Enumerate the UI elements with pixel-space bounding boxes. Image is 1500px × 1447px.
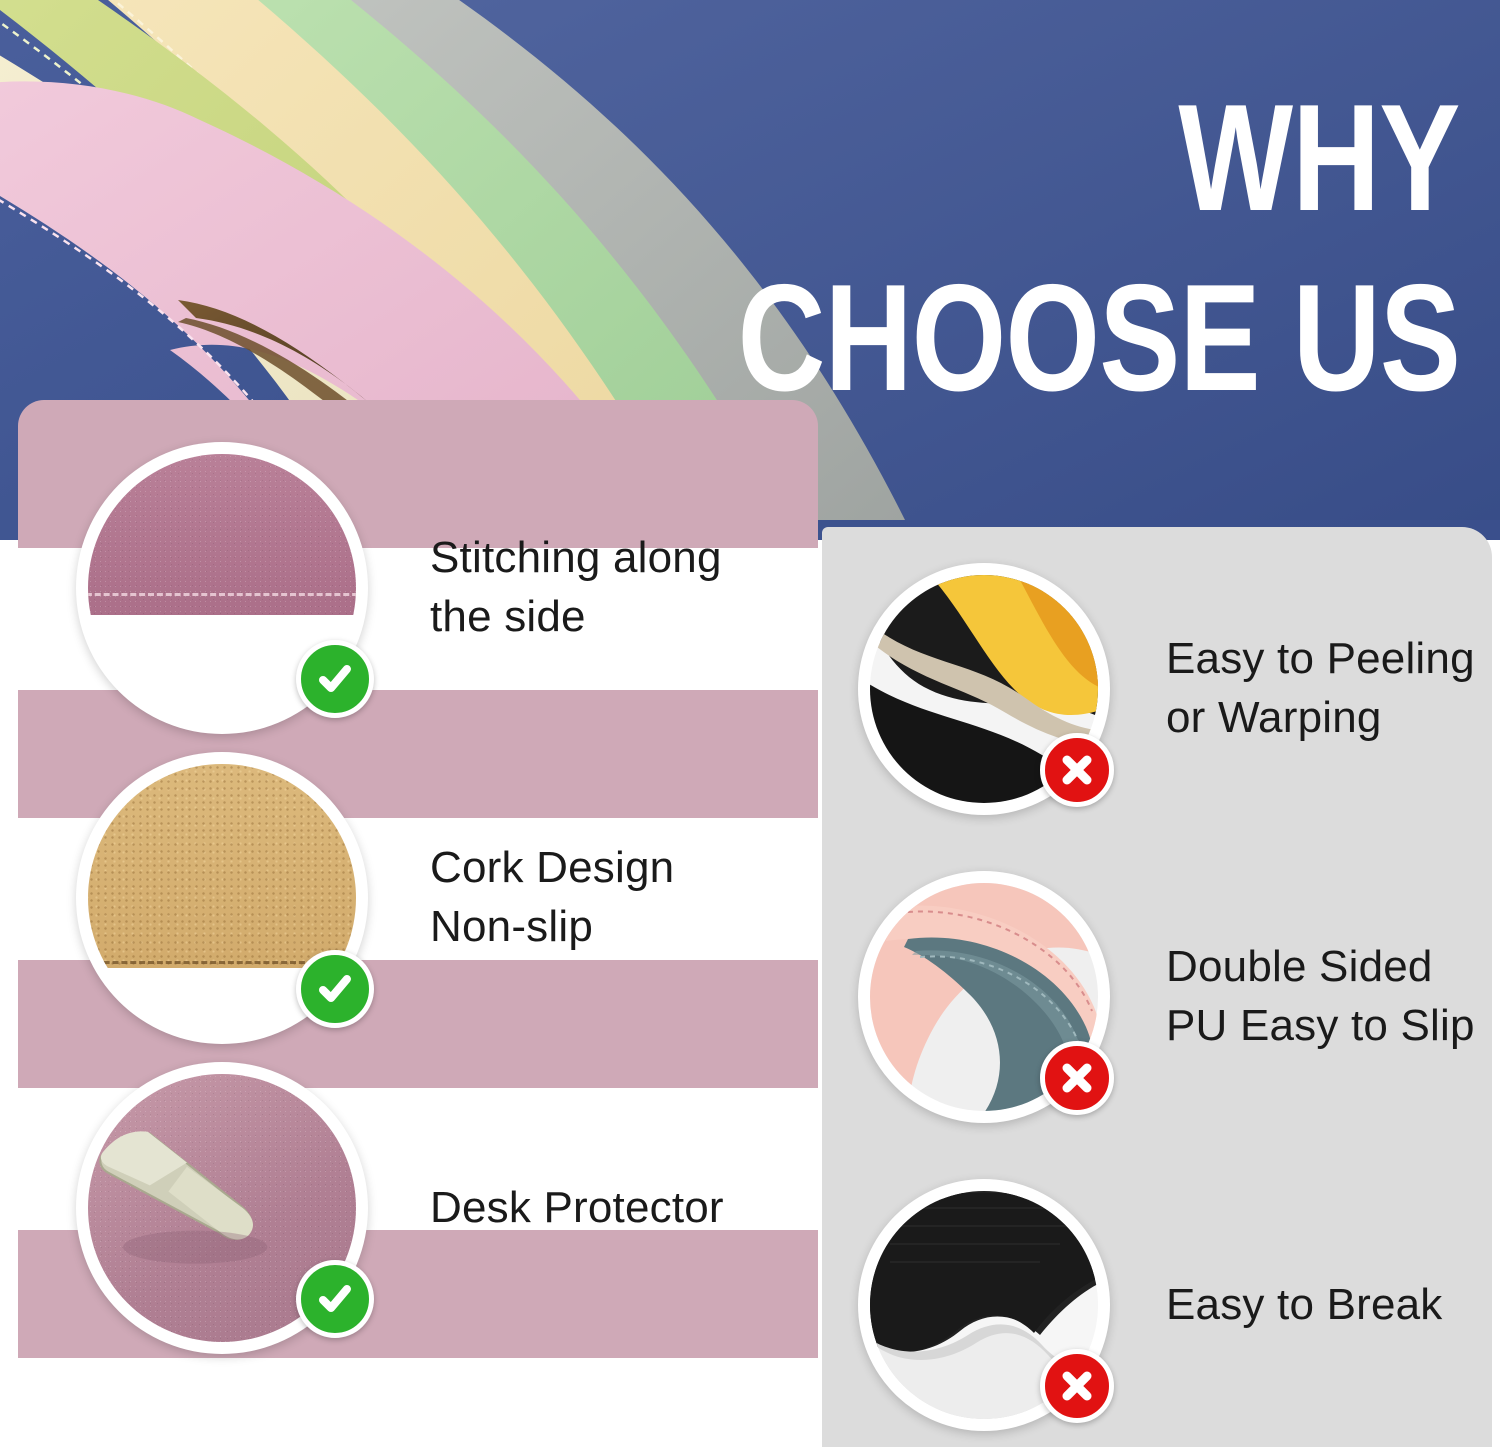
stitching-photo	[76, 442, 368, 734]
pros-label-2: Cork Design Non-slip	[430, 839, 674, 957]
pros-row-2: Cork Design Non-slip	[76, 752, 674, 1044]
check-icon	[296, 950, 374, 1028]
page-title-line2: CHOOSE US	[737, 272, 1460, 406]
pros-row-3: Desk Protector	[76, 1062, 724, 1354]
page-title-line1: WHY	[1179, 92, 1460, 226]
cross-icon	[1040, 1349, 1114, 1423]
peeling-photo	[858, 563, 1110, 815]
pros-panel: Stitching along the side Cork Design Non…	[18, 400, 818, 1447]
broken-photo	[858, 1179, 1110, 1431]
pros-label-1: Stitching along the side	[430, 529, 722, 647]
cross-icon	[1040, 733, 1114, 807]
check-icon	[296, 1260, 374, 1338]
cons-label-1: Easy to Peeling or Warping	[1166, 630, 1475, 748]
cons-row-3: Easy to Break	[858, 1179, 1443, 1431]
check-icon	[296, 640, 374, 718]
cons-row-2: Double Sided PU Easy to Slip	[858, 871, 1475, 1123]
pros-row-1: Stitching along the side	[76, 442, 722, 734]
cons-label-3: Easy to Break	[1166, 1276, 1443, 1335]
cons-label-2: Double Sided PU Easy to Slip	[1166, 938, 1475, 1056]
double-sided-photo	[858, 871, 1110, 1123]
cons-panel: Easy to Peeling or Warping	[822, 527, 1492, 1447]
cross-icon	[1040, 1041, 1114, 1115]
infographic-page: WHY CHOOSE US	[0, 0, 1500, 1447]
cork-photo	[76, 752, 368, 1044]
cons-row-1: Easy to Peeling or Warping	[858, 563, 1475, 815]
pros-label-3: Desk Protector	[430, 1179, 724, 1238]
desk-protector-photo	[76, 1062, 368, 1354]
stripe-4	[18, 1358, 818, 1447]
